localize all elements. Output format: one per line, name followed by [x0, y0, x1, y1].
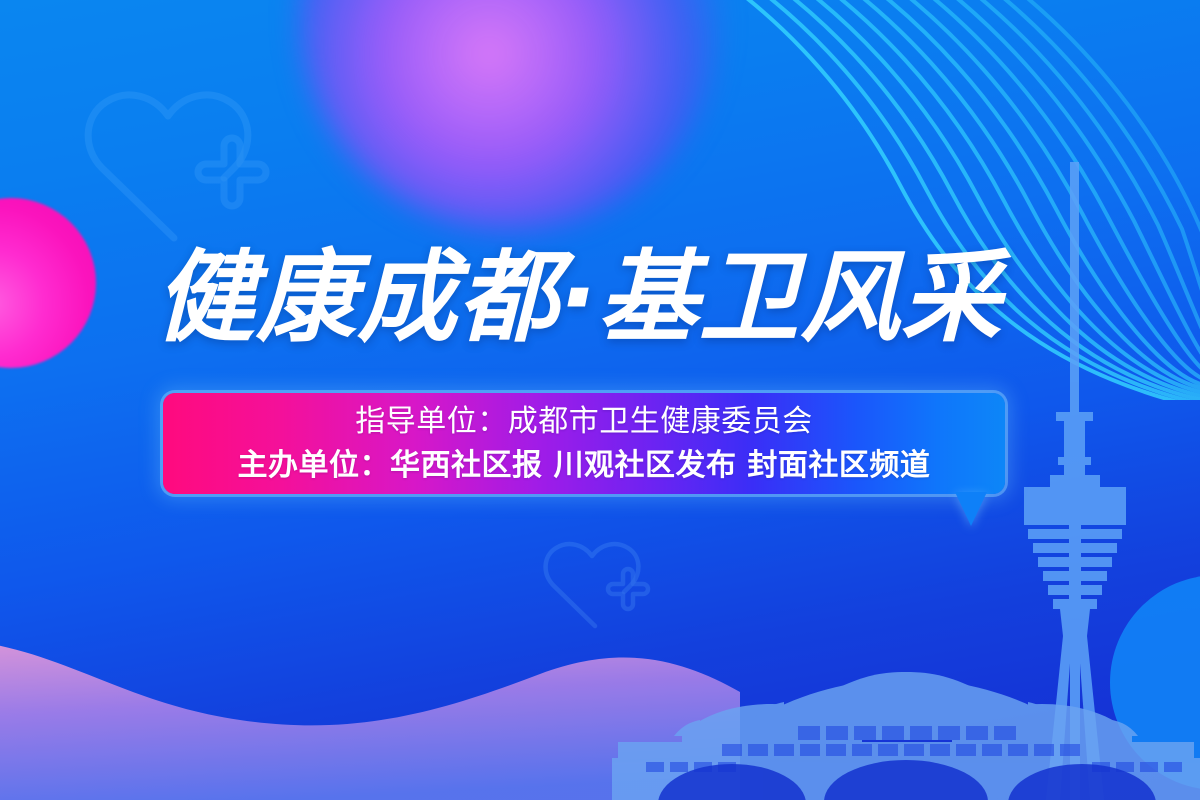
organizer-unit-line: 主办单位：华西社区报 川观社区发布 封面社区频道	[238, 444, 931, 488]
guidance-unit-line: 指导单位：成都市卫生健康委员会	[355, 400, 813, 444]
poster-content: 健康成都·基卫风采 指导单位：成都市卫生健康委员会 主办单位：华西社区报 川观社…	[0, 0, 1200, 800]
speech-bubble-tail-icon	[955, 492, 987, 526]
page-title: 健康成都·基卫风采	[155, 243, 1002, 353]
organizer-banner: 指导单位：成都市卫生健康委员会 主办单位：华西社区报 川观社区发布 封面社区频道	[163, 393, 1005, 494]
poster-canvas: 健康成都·基卫风采 指导单位：成都市卫生健康委员会 主办单位：华西社区报 川观社…	[0, 0, 1200, 800]
organizer-banner-body: 指导单位：成都市卫生健康委员会 主办单位：华西社区报 川观社区发布 封面社区频道	[163, 393, 1005, 494]
